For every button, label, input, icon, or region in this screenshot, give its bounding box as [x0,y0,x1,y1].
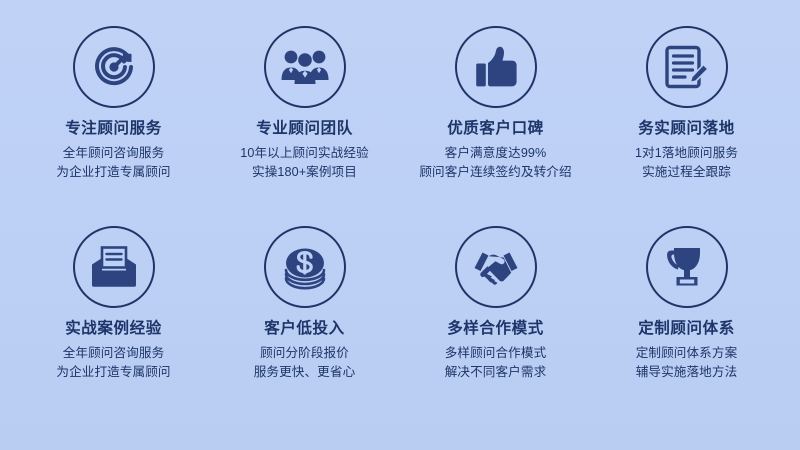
dollar-coins-icon [280,244,330,290]
feature-card-professional-team[interactable]: 专业顾问团队 10年以上顾问实战经验 实操180+案例项目 [209,26,400,226]
features-board: 专注顾问服务 全年顾问咨询服务 为企业打造专属顾问 [0,0,800,450]
icon-circle [264,26,346,108]
feature-desc-line-1: 客户满意度达99% [419,144,571,163]
feature-desc-line-1: 定制顾问体系方案 [636,344,738,363]
feature-card-low-investment[interactable]: 客户低投入 顾问分阶段报价 服务更快、更省心 [209,226,400,426]
target-arrow-icon [90,43,138,91]
feature-description: 顾问分阶段报价 服务更快、更省心 [254,344,356,382]
feature-card-focused-advisory[interactable]: 专注顾问服务 全年顾问咨询服务 为企业打造专属顾问 [18,26,209,226]
feature-card-case-experience[interactable]: 实战案例经验 全年顾问咨询服务 为企业打造专属顾问 [18,226,209,426]
feature-desc-line-1: 多样顾问合作模式 [445,344,547,363]
feature-description: 10年以上顾问实战经验 实操180+案例项目 [240,144,368,182]
feature-desc-line-1: 全年顾问咨询服务 [56,344,170,363]
feature-desc-line-1: 10年以上顾问实战经验 [240,144,368,163]
icon-circle [455,226,537,308]
document-pen-icon [663,42,711,92]
feature-description: 定制顾问体系方案 辅导实施落地方法 [636,344,738,382]
feature-desc-line-2: 服务更快、更省心 [254,363,356,382]
feature-desc-line-2: 为企业打造专属顾问 [56,163,170,182]
thumbs-up-icon [473,43,519,91]
icon-circle [455,26,537,108]
feature-description: 客户满意度达99% 顾问客户连续签约及转介绍 [419,144,571,182]
feature-description: 多样顾问合作模式 解决不同客户需求 [445,344,547,382]
feature-description: 全年顾问咨询服务 为企业打造专属顾问 [56,344,170,382]
feature-description: 全年顾问咨询服务 为企业打造专属顾问 [56,144,170,182]
feature-title: 实战案例经验 [65,320,162,337]
feature-desc-line-1: 1对1落地顾问服务 [635,144,738,163]
feature-desc-line-1: 全年顾问咨询服务 [56,144,170,163]
feature-desc-line-2: 辅导实施落地方法 [636,363,738,382]
feature-title: 客户低投入 [264,320,345,337]
feature-title: 优质客户口碑 [447,120,544,137]
feature-title: 务实顾问落地 [638,120,735,137]
trophy-icon [663,243,711,291]
feature-title: 定制顾问体系 [638,320,735,337]
feature-title: 多样合作模式 [447,320,544,337]
feature-grid: 专注顾问服务 全年顾问咨询服务 为企业打造专属顾问 [0,0,800,450]
inbox-document-icon [89,245,139,289]
feature-desc-line-1: 顾问分阶段报价 [254,344,356,363]
feature-title: 专注顾问服务 [65,120,162,137]
feature-description: 1对1落地顾问服务 实施过程全跟踪 [635,144,738,182]
feature-desc-line-2: 解决不同客户需求 [445,363,547,382]
feature-title: 专业顾问团队 [256,120,353,137]
team-people-icon [280,44,330,90]
feature-desc-line-2: 顾问客户连续签约及转介绍 [419,163,571,182]
feature-desc-line-2: 为企业打造专属顾问 [56,363,170,382]
icon-circle [73,26,155,108]
feature-desc-line-2: 实施过程全跟踪 [635,163,738,182]
feature-card-custom-system[interactable]: 定制顾问体系 定制顾问体系方案 辅导实施落地方法 [591,226,782,426]
feature-card-customer-reputation[interactable]: 优质客户口碑 客户满意度达99% 顾问客户连续签约及转介绍 [400,26,591,226]
feature-card-practical-implementation[interactable]: 务实顾问落地 1对1落地顾问服务 实施过程全跟踪 [591,26,782,226]
icon-circle [264,226,346,308]
feature-card-cooperation-modes[interactable]: 多样合作模式 多样顾问合作模式 解决不同客户需求 [400,226,591,426]
feature-desc-line-2: 实操180+案例项目 [240,163,368,182]
handshake-icon [470,246,522,288]
icon-circle [646,226,728,308]
icon-circle [646,26,728,108]
icon-circle [73,226,155,308]
